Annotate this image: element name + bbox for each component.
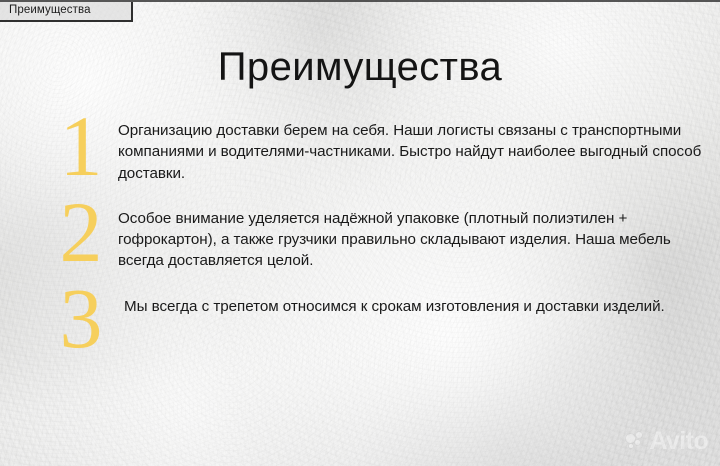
list-item: 3 Мы всегда с трепетом относимся к срока… xyxy=(50,284,720,353)
item-text: Организацию доставки берем на себя. Наши… xyxy=(112,112,720,184)
item-text: Мы всегда с трепетом относимся к срокам … xyxy=(112,284,710,317)
slide-canvas: Преимущества Преимущества 1 Организацию … xyxy=(0,0,720,466)
list-item: 2 Особое внимание уделяется надёжной упа… xyxy=(50,198,720,272)
avito-wordmark: Avito xyxy=(649,429,708,454)
tab-label: Преимущества xyxy=(9,5,91,17)
item-number: 1 xyxy=(50,112,112,181)
item-number: 3 xyxy=(50,284,112,353)
page-title: Преимущества xyxy=(0,47,720,87)
avito-dots-icon xyxy=(626,432,645,451)
avito-watermark: Avito xyxy=(626,429,708,454)
advantages-list: 1 Организацию доставки берем на себя. На… xyxy=(0,112,720,352)
item-number: 2 xyxy=(50,198,112,267)
list-item: 1 Организацию доставки берем на себя. На… xyxy=(50,112,720,184)
item-text: Особое внимание уделяется надёжной упако… xyxy=(112,198,720,272)
tab-preimushchestva[interactable]: Преимущества xyxy=(0,2,133,22)
